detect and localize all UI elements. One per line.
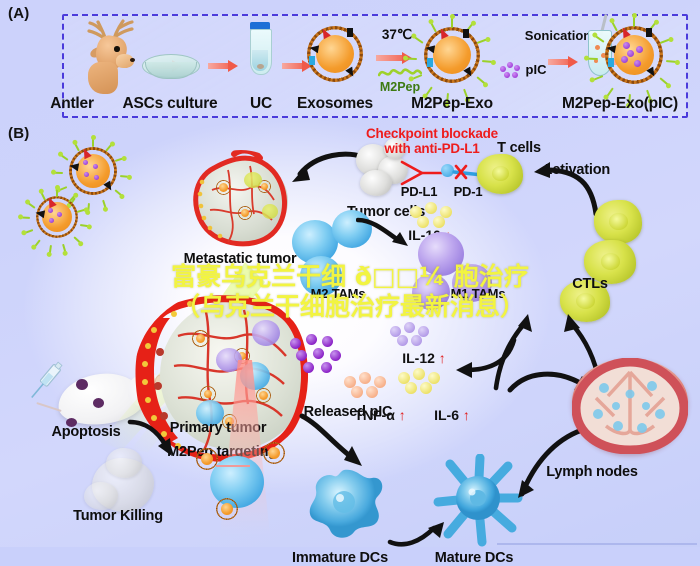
cytokine-particle: [359, 372, 371, 384]
primary-tumor-label: Primary tumor: [170, 420, 267, 436]
m1-tam-cell: [252, 320, 280, 346]
step-label-antler: Antler: [50, 95, 94, 113]
deer-head-icon: [82, 14, 148, 96]
step-label-m2pep-exo: M2Pep-Exo: [411, 95, 493, 113]
m2-tam-cell: [240, 362, 270, 390]
metastatic-tumor-mass: [188, 150, 294, 250]
loaded-exosome-icon: [216, 498, 238, 520]
mature-dc-cell: [430, 454, 526, 548]
ctls-label: CTLs: [572, 276, 607, 292]
pic-particle: [306, 334, 317, 345]
centrifuge-tube-icon: [243, 22, 279, 78]
cytokine-particle: [417, 216, 429, 228]
pic-particle: [322, 336, 333, 347]
watermark-overlay: 富豪乌克兰干细 ð□□¼ 胞治疗 （乌克兰干细胞治疗最新消息）: [171, 262, 529, 322]
targeting-link: [214, 458, 254, 474]
blue-protein-icon: [309, 56, 315, 65]
pic-particle: [330, 350, 341, 361]
checkpoint-blockade-line1: Checkpoint blockade: [366, 126, 498, 141]
mature-dcs-label: Mature DCs: [435, 550, 514, 566]
black-protein-icon: [347, 28, 353, 37]
peptide-exosome-icon: [417, 20, 487, 90]
black-protein-icon: [646, 28, 652, 37]
loaded-exosome-icon: [30, 190, 84, 244]
watermark-line-2: （乌克兰干细胞治疗最新消息）: [171, 292, 529, 322]
pic-particle: [321, 362, 332, 373]
tumor-killing-label: Tumor Killing: [73, 508, 163, 524]
m1-tam-cell: [216, 348, 242, 372]
tumor-cell: [360, 170, 392, 196]
temperature-condition: 37℃: [382, 27, 412, 43]
exosome-icon: [307, 26, 363, 82]
il12-label: IL-12: [402, 350, 435, 366]
cytokine-particle: [413, 368, 425, 380]
panel-b-letter: (B): [8, 125, 29, 142]
pic-particle: [296, 350, 307, 361]
black-protein-icon: [69, 162, 79, 171]
t-cell: [594, 200, 642, 244]
tumor-spot: [93, 398, 104, 408]
immature-dc-cell: [300, 462, 390, 548]
lymph-nodes-label: Lymph nodes: [546, 464, 638, 480]
pd1-label: PD-1: [454, 184, 483, 199]
blue-protein-icon: [427, 58, 433, 67]
il6-label: IL-6: [434, 407, 459, 423]
black-protein-icon: [606, 44, 616, 53]
il6-cytokine: IL-6 ↑: [434, 407, 470, 423]
watermark-line-1: 富豪乌克兰干细 ð□□¼ 胞治疗: [171, 262, 529, 292]
cytokine-particle: [405, 382, 417, 394]
tumor-spot: [76, 379, 88, 390]
pic-particle: [290, 338, 301, 349]
black-protein-icon: [425, 44, 435, 53]
apoptotic-cell-fragment: [84, 482, 118, 510]
checkpoint-blockade-line2: with anti-PD-L1: [384, 141, 479, 156]
apoptotic-cell-fragment: [106, 448, 142, 478]
il12-arrow: ↑: [439, 350, 446, 366]
cytokine-particle: [404, 322, 415, 333]
m2pep-condition-label: M2Pep: [380, 80, 420, 94]
panel-a: (A): [0, 0, 700, 122]
arrow-polarization: [356, 216, 416, 252]
cytokine-particle: [351, 386, 363, 398]
il6-arrow: ↑: [463, 407, 470, 423]
immature-dcs-label: Immature DCs: [292, 550, 388, 566]
cytokine-particle: [425, 202, 437, 214]
apoptosis-label: Apoptosis: [51, 424, 120, 440]
pic-particle: [303, 362, 314, 373]
black-protein-icon: [309, 44, 319, 53]
petri-dish-icon: [142, 44, 200, 80]
panel-b: (B): [0, 122, 700, 547]
t-cell: [477, 154, 523, 194]
black-protein-icon: [35, 209, 45, 218]
pic-condition-label: pIC: [526, 62, 547, 77]
bottom-edge-line: [497, 543, 697, 545]
cytokine-particle: [374, 376, 386, 388]
pic-particles-icon: [500, 62, 522, 78]
black-protein-icon: [463, 29, 469, 38]
cytokine-particle: [411, 335, 422, 346]
loaded-exosome-icon: [263, 442, 285, 464]
cytokine-particle: [397, 335, 408, 346]
loaded-exosome-icon: [597, 18, 671, 92]
tnfa-cytokine: TNF-α ↑: [354, 407, 405, 423]
pic-particle: [313, 348, 324, 359]
lymph-node-organ: [572, 358, 688, 454]
cytokine-particle: [420, 382, 432, 394]
step-label-uc: UC: [250, 95, 272, 113]
cytokine-particle: [428, 372, 440, 384]
panel-a-letter: (A): [8, 5, 29, 22]
il12-cytokine: IL-12 ↑: [402, 350, 446, 366]
cytokine-particle: [433, 216, 445, 228]
cytokine-particle: [366, 386, 378, 398]
tnfa-label: TNF-α: [354, 407, 394, 423]
step-label-ascs-culture: ASCs culture: [123, 95, 218, 113]
step-label-m2pep-exo-pic: M2Pep-Exo(pIC): [562, 95, 678, 113]
tnfa-arrow: ↑: [399, 407, 406, 423]
pdl1-label: PD-L1: [401, 184, 438, 199]
step-label-exosomes: Exosomes: [297, 95, 373, 113]
scientific-figure: (A): [0, 0, 700, 547]
blue-protein-icon: [608, 58, 614, 67]
